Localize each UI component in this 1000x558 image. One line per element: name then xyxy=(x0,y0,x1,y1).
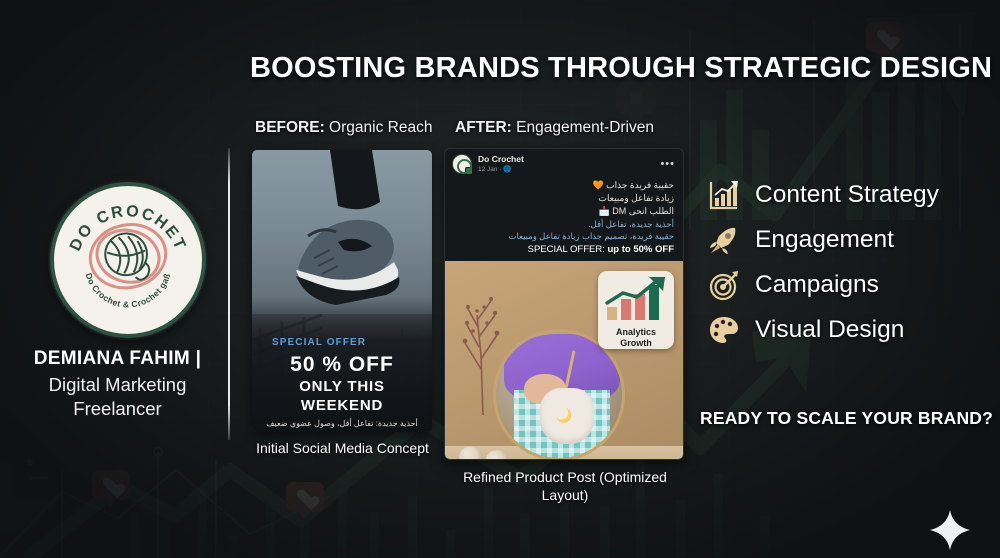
feature-item-engagement[interactable]: Engagement xyxy=(708,217,939,262)
post-caption: حقيبة فريدة جذاب 🧡 زيادة تفاعل ومبيعات ا… xyxy=(445,179,683,261)
feature-label: Content Strategy xyxy=(755,181,939,209)
before-caption: Initial Social Media Concept xyxy=(245,439,440,457)
cta-text: READY TO SCALE YOUR BRAND? xyxy=(700,408,993,429)
post-meta: ‏12 Jan · 🌐 xyxy=(478,165,524,173)
palette-icon xyxy=(708,314,740,346)
after-post-card[interactable]: Do Crochet ‏12 Jan · 🌐 ••• حقيبة فريدة ج… xyxy=(444,148,684,460)
post-offer-prefix: SPECIAL OFFER: xyxy=(528,244,605,255)
feature-label: Campaigns xyxy=(755,271,879,299)
target-dart-icon xyxy=(708,269,740,301)
post-caption-line-1: حقيبة فريدة جذاب 🧡 xyxy=(454,179,674,192)
analytics-label-line1: Analytics xyxy=(603,327,669,337)
avatar[interactable] xyxy=(452,154,472,174)
post-caption-line-2: زيادة تفاعل ومبيعات xyxy=(454,192,674,205)
ellipsis-icon[interactable]: ••• xyxy=(660,158,675,170)
bar-chart-growth-icon xyxy=(603,277,669,321)
before-promo-block: SPECIAL OFFER 50 % OFF ONLY THIS WEEKEND… xyxy=(252,337,432,428)
after-label-prefix: AFTER: xyxy=(455,119,512,136)
special-offer-label: SPECIAL OFFER xyxy=(252,337,432,348)
discount-value: 50 % OFF xyxy=(252,353,432,377)
brand-name: DEMIANA FAHIM | xyxy=(10,348,225,370)
brand-role: Digital Marketing Freelancer xyxy=(10,373,225,420)
before-label: BEFORE: Organic Reach xyxy=(255,119,432,137)
post-caption-line-4: أحذية جديدة، تفاعل أقل. xyxy=(454,218,674,230)
post-offer-value: up to 50% OFF xyxy=(605,244,674,255)
after-caption: Refined Product Post (Optimized Layout) xyxy=(455,468,675,504)
feature-label: Visual Design xyxy=(755,316,904,344)
rocket-icon xyxy=(708,224,740,256)
after-label: AFTER: Engagement-Driven xyxy=(455,119,654,137)
analytics-label-line2: Growth xyxy=(603,338,669,348)
sparkle-star-icon xyxy=(928,508,972,552)
feature-item-campaigns[interactable]: Campaigns xyxy=(708,262,939,307)
post-offer-line: SPECIAL OFFER: up to 50% OFF xyxy=(454,243,674,256)
brand-logo: DO CROCHET Do Crochet & Crochet gaß xyxy=(50,182,206,338)
post-caption-line-3: الطلب انحى DM 📩 xyxy=(454,205,674,218)
feature-item-visual-design[interactable]: Visual Design xyxy=(708,307,939,352)
post-product-photo: Analytics Growth xyxy=(445,261,683,460)
offer-duration-line1: ONLY THIS xyxy=(252,379,432,396)
crochet-bag-product xyxy=(540,388,594,444)
feature-label: Engagement xyxy=(755,226,894,254)
bar-chart-growth-icon xyxy=(708,179,740,211)
before-label-text: Organic Reach xyxy=(325,119,433,136)
post-caption-line-5: حقيبة فريدة، تصميم جذاب زيادة تفاعل ومبي… xyxy=(454,230,674,242)
before-image-card[interactable]: SPECIAL OFFER 50 % OFF ONLY THIS WEEKEND… xyxy=(252,150,432,432)
analytics-growth-badge: Analytics Growth xyxy=(598,271,674,349)
svg-text:DO CROCHET: DO CROCHET xyxy=(66,202,190,254)
logo-graphic: DO CROCHET Do Crochet & Crochet gaß xyxy=(54,186,202,334)
offer-duration-line2: WEEKEND xyxy=(252,398,432,415)
page-title: BOOSTING BRANDS THROUGH STRATEGIC DESIGN xyxy=(250,52,980,85)
before-label-prefix: BEFORE: xyxy=(255,119,325,136)
after-label-text: Engagement-Driven xyxy=(512,119,654,136)
feature-item-content-strategy[interactable]: Content Strategy xyxy=(708,172,939,217)
section-divider xyxy=(228,148,230,440)
logo-arc-top-text: DO CROCHET xyxy=(66,202,190,254)
feature-list: Content Strategy Engagement Cam xyxy=(708,172,939,352)
post-profile-name[interactable]: Do Crochet xyxy=(478,154,524,164)
post-header: Do Crochet ‏12 Jan · 🌐 ••• xyxy=(445,149,683,179)
before-arabic-note: أحذية جديدة: تفاعل أقل، وصول عضوي ضعيف xyxy=(252,419,432,428)
